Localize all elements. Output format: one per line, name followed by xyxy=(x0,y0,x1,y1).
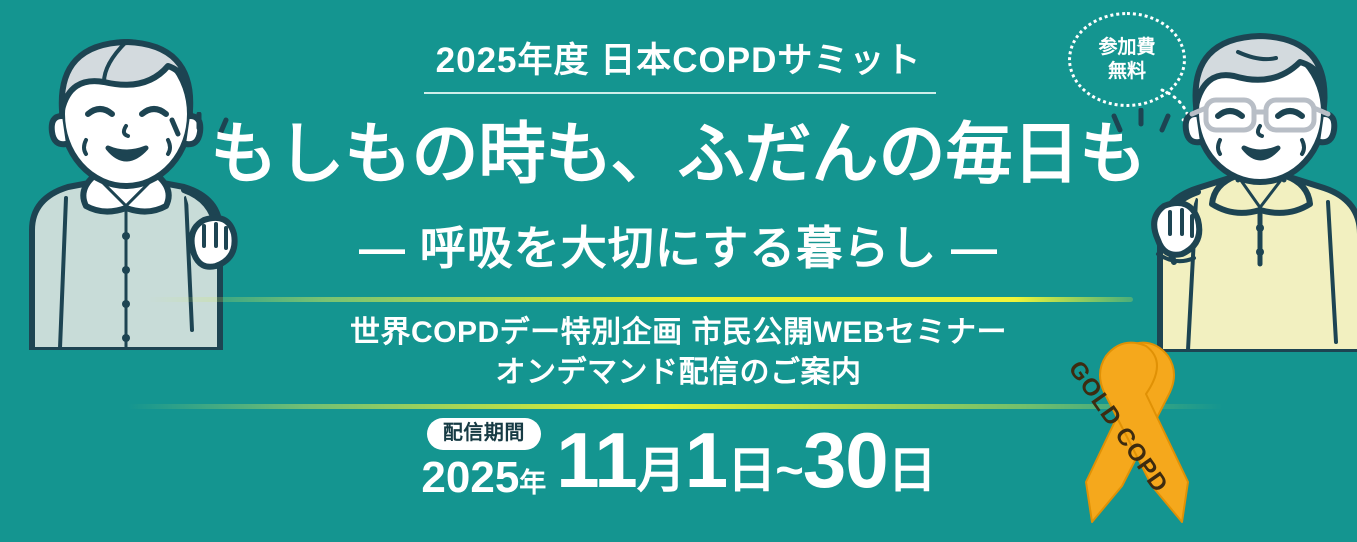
status-badge: 配信期間 xyxy=(427,418,541,450)
divider-top xyxy=(148,297,1133,302)
date-range: 11月1日~30日 xyxy=(556,423,935,500)
year-label: 2025年 xyxy=(421,456,546,500)
gold-copd-ribbon-icon xyxy=(1072,336,1202,526)
copd-summit-banner: 2025年度 日本COPDサミット もしもの時も、ふだんの毎日も — 呼吸を大切… xyxy=(0,0,1357,542)
month-unit: 月 xyxy=(637,444,685,498)
title-rule xyxy=(424,92,936,94)
end-day-unit: 日 xyxy=(888,444,936,498)
start-day-value: 1 xyxy=(685,416,727,504)
bubble-line-1: 参加費 xyxy=(1098,36,1155,60)
start-day-unit: 日 xyxy=(727,444,775,498)
year-value: 2025 xyxy=(421,453,519,502)
elderly-man-illustration xyxy=(1150,22,1357,352)
bubble-line-2: 無料 xyxy=(1108,60,1146,84)
month-value: 11 xyxy=(556,416,636,504)
divider-bottom xyxy=(128,404,1223,409)
year-unit: 年 xyxy=(519,468,546,498)
sparkle-icon-right xyxy=(1110,108,1172,148)
range-mark: ~ xyxy=(775,444,803,498)
end-day-value: 30 xyxy=(803,416,888,504)
